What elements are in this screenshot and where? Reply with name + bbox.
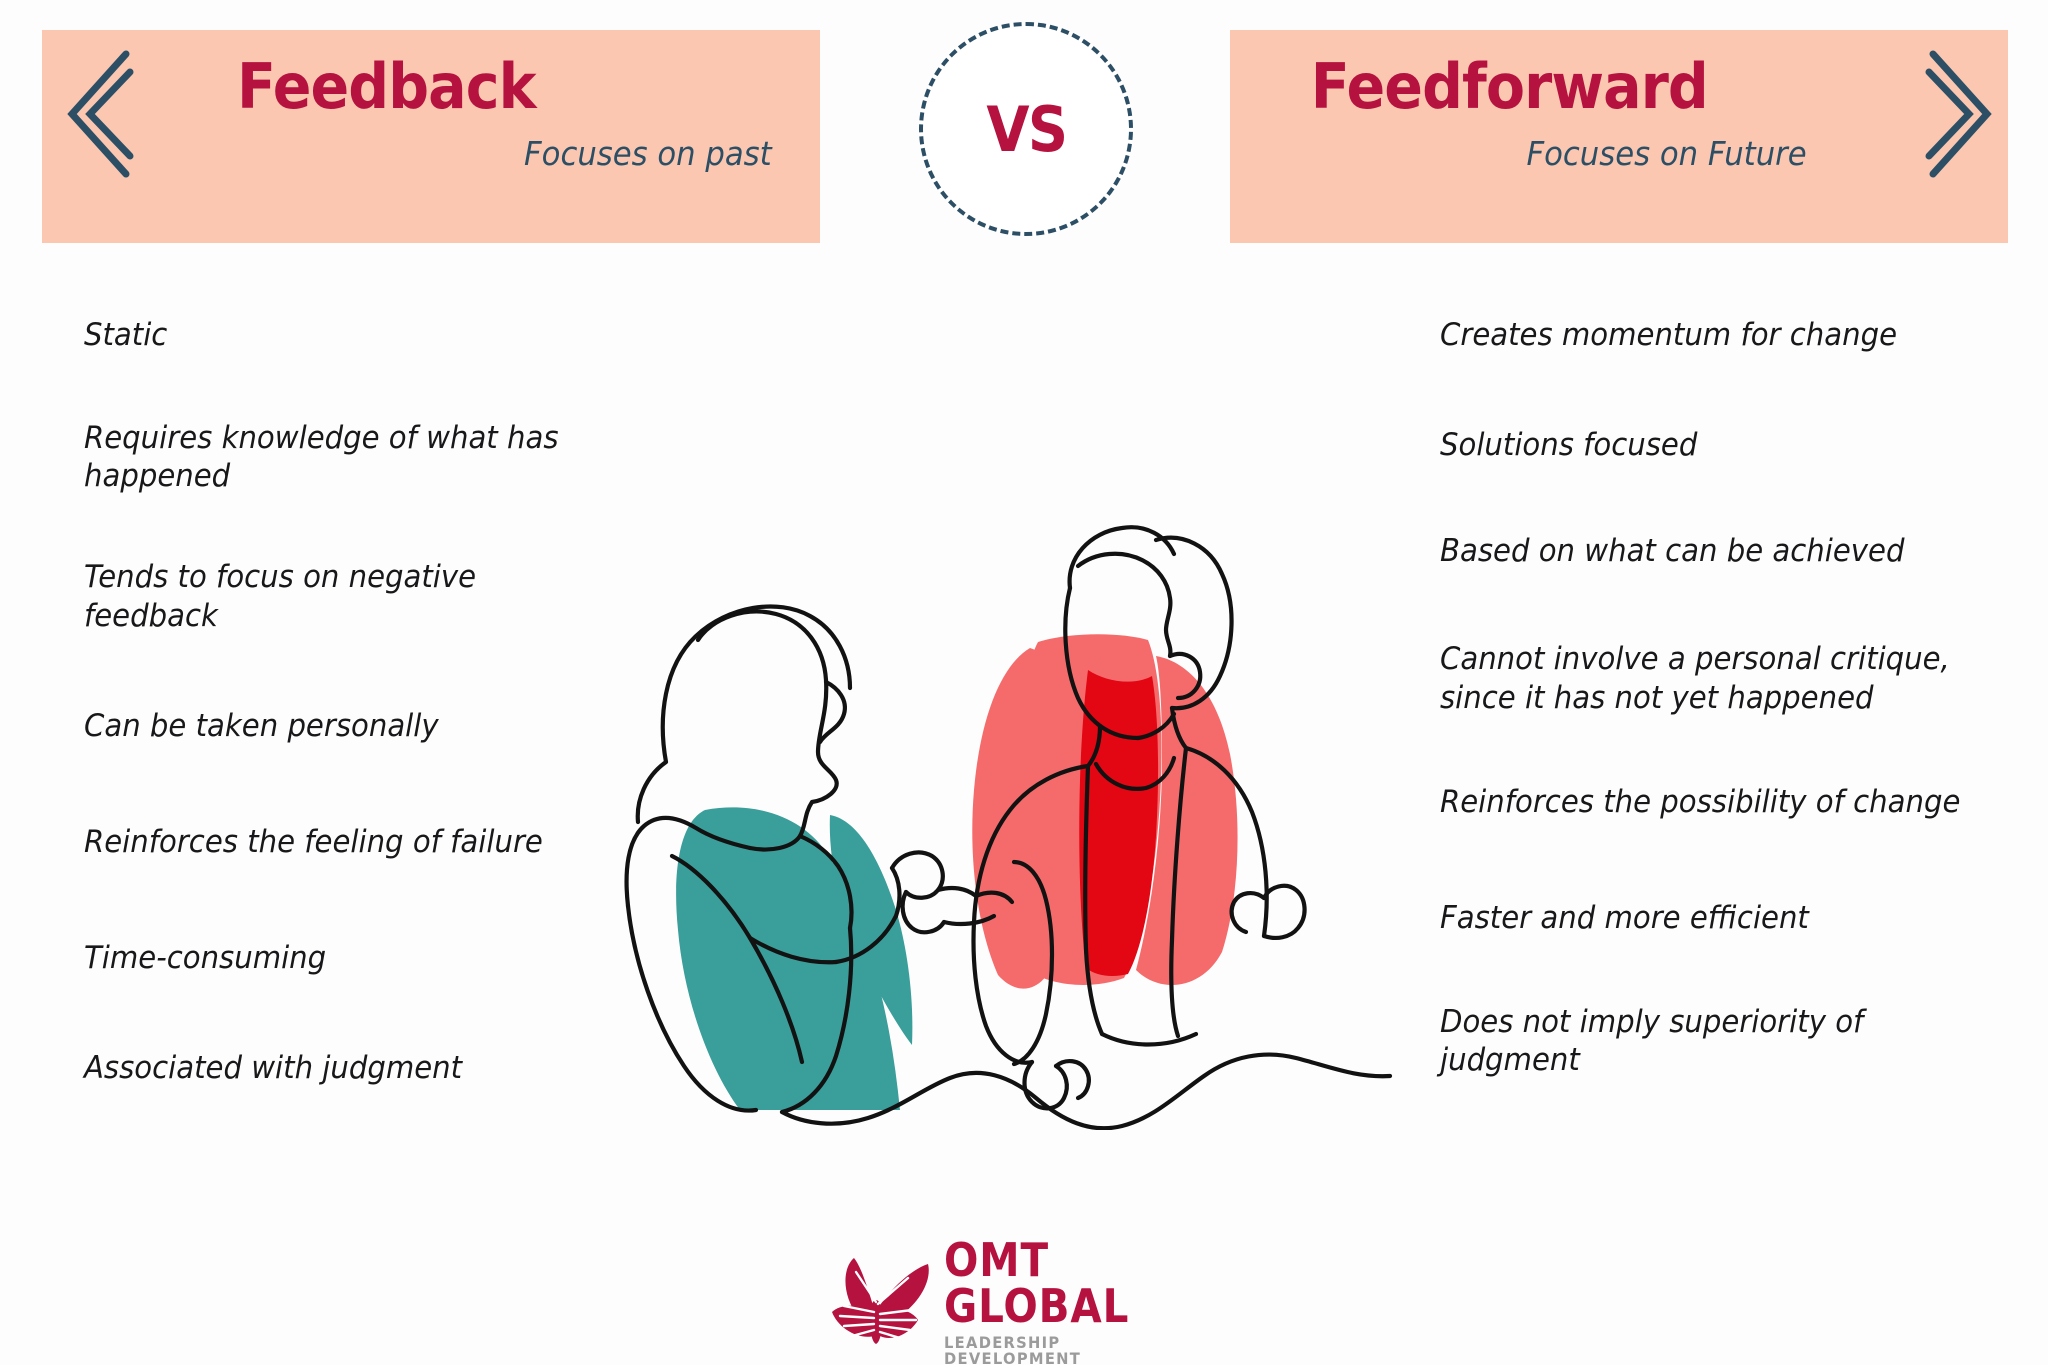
feedforward-subtitle: Focuses on Future — [1271, 134, 1829, 173]
list-item: Does not imply superiority of judgment — [1440, 1003, 1966, 1079]
list-item: Requires knowledge of what has happened — [84, 419, 610, 495]
feedback-header-banner: Feedback Focuses on past — [42, 30, 820, 243]
logo-name: OMT GLOBAL — [944, 1237, 1190, 1329]
list-item: Time-consuming — [84, 939, 610, 977]
list-item: Tends to focus on negative feedback — [84, 558, 610, 634]
feedback-attribute-list: Static Requires knowledge of what has ha… — [84, 316, 644, 1087]
list-item: Reinforces the possibility of change — [1440, 783, 1966, 821]
list-item: Can be taken personally — [84, 707, 610, 745]
vs-label: VS — [986, 93, 1066, 166]
list-item: Associated with judgment — [84, 1049, 610, 1087]
double-chevron-left-icon — [62, 48, 134, 180]
list-item: Static — [84, 316, 610, 354]
list-item: Faster and more efficient — [1440, 899, 1966, 937]
list-item: Based on what can be achieved — [1440, 532, 1966, 570]
list-item: Cannot involve a personal critique, sinc… — [1440, 640, 1966, 716]
double-chevron-right-icon — [1925, 48, 1997, 180]
logo-wordmark: OMT GLOBAL LEADERSHIP DEVELOPMENT — [944, 1237, 1224, 1365]
feedforward-header-text: Feedforward Focuses on Future — [1250, 56, 1850, 173]
vs-divider-badge: VS — [919, 22, 1133, 236]
list-item: Solutions focused — [1440, 426, 1966, 464]
feedforward-attribute-list: Creates momentum for change Solutions fo… — [1440, 316, 2000, 1079]
omt-global-logo: OMT GLOBAL LEADERSHIP DEVELOPMENT — [824, 1252, 1224, 1352]
butterfly-icon — [824, 1256, 936, 1348]
logo-tagline: LEADERSHIP DEVELOPMENT — [944, 1335, 1202, 1365]
feedforward-title: Feedforward — [1274, 56, 1826, 118]
infographic-canvas: Feedback Focuses on past VS Feedforward … — [0, 0, 2048, 1365]
feedback-title: Feedback — [226, 56, 778, 118]
list-item: Reinforces the feeling of failure — [84, 823, 610, 861]
feedback-header-text: Feedback Focuses on past — [202, 56, 802, 173]
feedforward-header-banner: Feedforward Focuses on Future — [1230, 30, 2008, 243]
list-item: Creates momentum for change — [1440, 316, 1966, 354]
feedback-subtitle: Focuses on past — [223, 134, 781, 173]
two-people-conversation-line-art — [600, 470, 1400, 1130]
